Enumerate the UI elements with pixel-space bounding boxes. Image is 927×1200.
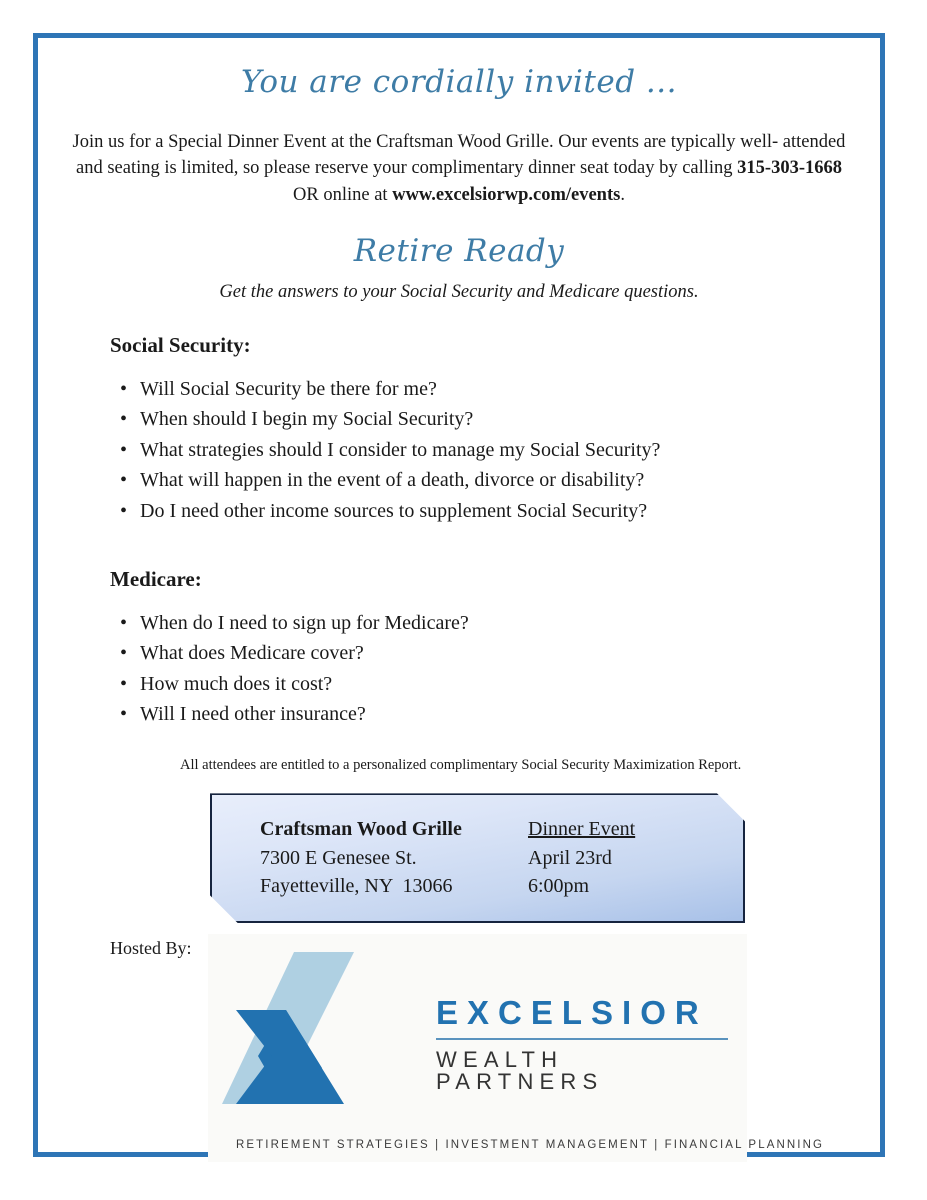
list-item: Will I need other insurance? <box>38 699 880 729</box>
list-item: What does Medicare cover? <box>38 638 880 668</box>
logo-submark: WEALTH PARTNERS <box>436 1049 732 1093</box>
list-item: What strategies should I consider to man… <box>38 435 880 465</box>
event-subtitle: Get the answers to your Social Security … <box>38 268 880 303</box>
venue-address: 7300 E Genesee St. <box>260 844 528 872</box>
section-heading-social-security: Social Security: <box>38 303 880 358</box>
social-security-question-list: Will Social Security be there for me? Wh… <box>38 358 880 526</box>
list-item: When should I begin my Social Security? <box>38 404 880 434</box>
venue-name: Craftsman Wood Grille <box>260 815 528 843</box>
event-details-box: Craftsman Wood Grille 7300 E Genesee St.… <box>210 793 745 923</box>
intro-paragraph: Join us for a Special Dinner Event at th… <box>38 99 880 208</box>
medicare-question-list: When do I need to sign up for Medicare? … <box>38 592 880 730</box>
list-item: Will Social Security be there for me? <box>38 374 880 404</box>
list-item: How much does it cost? <box>38 669 880 699</box>
event-type: Dinner Event <box>528 815 718 843</box>
event-details-content: Craftsman Wood Grille 7300 E Genesee St.… <box>210 793 745 923</box>
event-column: Dinner Event April 23rd 6:00pm <box>528 815 718 923</box>
logo-tagline: RETIREMENT STRATEGIES | INVESTMENT MANAG… <box>236 1139 824 1151</box>
attendee-note: All attendees are entitled to a personal… <box>38 730 880 775</box>
event-time: 6:00pm <box>528 872 718 900</box>
page-content: You are cordially invited ... Join us fo… <box>38 38 880 1152</box>
phone-number: 315-303-1668 <box>737 158 842 178</box>
invitation-page: You are cordially invited ... Join us fo… <box>0 0 927 1200</box>
invitation-title: You are cordially invited ... <box>38 38 880 99</box>
venue-city-state-zip: Fayetteville, NY 13066 <box>260 872 528 900</box>
event-title: Retire Ready <box>38 208 880 268</box>
excelsior-wordmark-block: EXCELSIOR WEALTH PARTNERS <box>436 996 732 1093</box>
hosted-by-section: Hosted By: EXCELSIOR WEALTH PARTNERS RET… <box>38 934 880 1162</box>
logo-divider-rule <box>436 1038 728 1040</box>
intro-text-part1: Join us for a Special Dinner Event at th… <box>73 132 846 178</box>
intro-text-part3: . <box>620 185 625 205</box>
hosted-by-label: Hosted By: <box>110 938 192 959</box>
section-heading-medicare: Medicare: <box>38 526 880 592</box>
event-date: April 23rd <box>528 844 718 872</box>
website-url: www.excelsiorwp.com/events <box>392 185 620 205</box>
venue-column: Craftsman Wood Grille 7300 E Genesee St.… <box>260 815 528 923</box>
excelsior-x-logo-icon <box>222 952 420 1104</box>
list-item: When do I need to sign up for Medicare? <box>38 608 880 638</box>
intro-text-part2: OR online at <box>293 185 392 205</box>
excelsior-logo-panel: EXCELSIOR WEALTH PARTNERS RETIREMENT STR… <box>208 934 747 1162</box>
logo-wordmark: EXCELSIOR <box>436 996 732 1029</box>
list-item: What will happen in the event of a death… <box>38 465 880 495</box>
list-item: Do I need other income sources to supple… <box>38 496 880 526</box>
